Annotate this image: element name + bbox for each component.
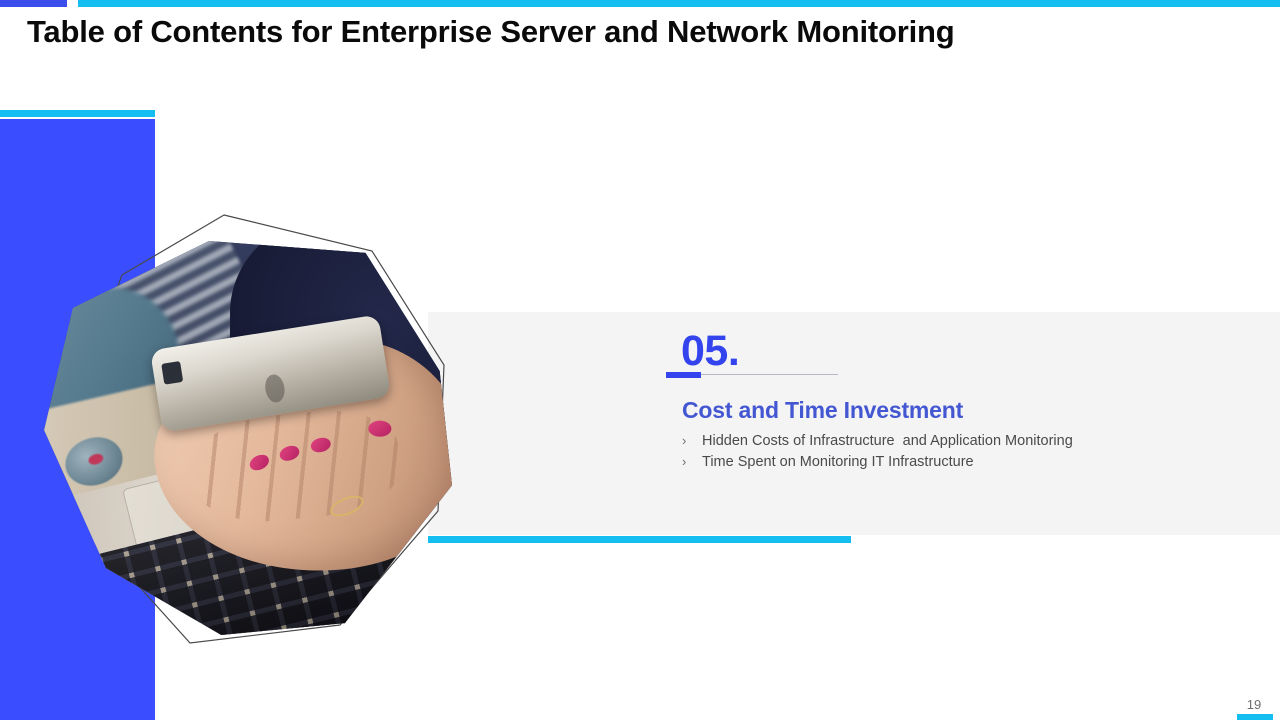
content-panel-underbar — [428, 536, 851, 543]
top-accent-bar-indigo — [0, 0, 67, 7]
page-number-accent-bar — [1237, 714, 1273, 720]
section-bullet-list: › Hidden Costs of Infrastructure and App… — [682, 431, 1242, 473]
page-title: Table of Contents for Enterprise Server … — [27, 12, 1207, 52]
slide-canvas: Table of Contents for Enterprise Server … — [0, 0, 1280, 720]
list-item-label: Time Spent on Monitoring IT Infrastructu… — [702, 453, 974, 472]
section-number-rule-line — [701, 374, 838, 375]
photo-block — [30, 205, 470, 655]
list-item: › Hidden Costs of Infrastructure and App… — [682, 431, 1242, 451]
chevron-right-icon: › — [682, 431, 702, 450]
list-item-label: Hidden Costs of Infrastructure and Appli… — [702, 432, 1073, 451]
section-number-rule-accent — [666, 372, 701, 378]
section-number: 05. — [681, 327, 739, 375]
list-item: › Time Spent on Monitoring IT Infrastruc… — [682, 452, 1242, 472]
chevron-right-icon: › — [682, 452, 702, 471]
page-number: 19 — [1237, 697, 1271, 712]
section-heading: Cost and Time Investment — [682, 396, 963, 424]
sidebar-cyan-cap — [0, 110, 155, 117]
top-accent-bar-cyan — [78, 0, 1280, 7]
